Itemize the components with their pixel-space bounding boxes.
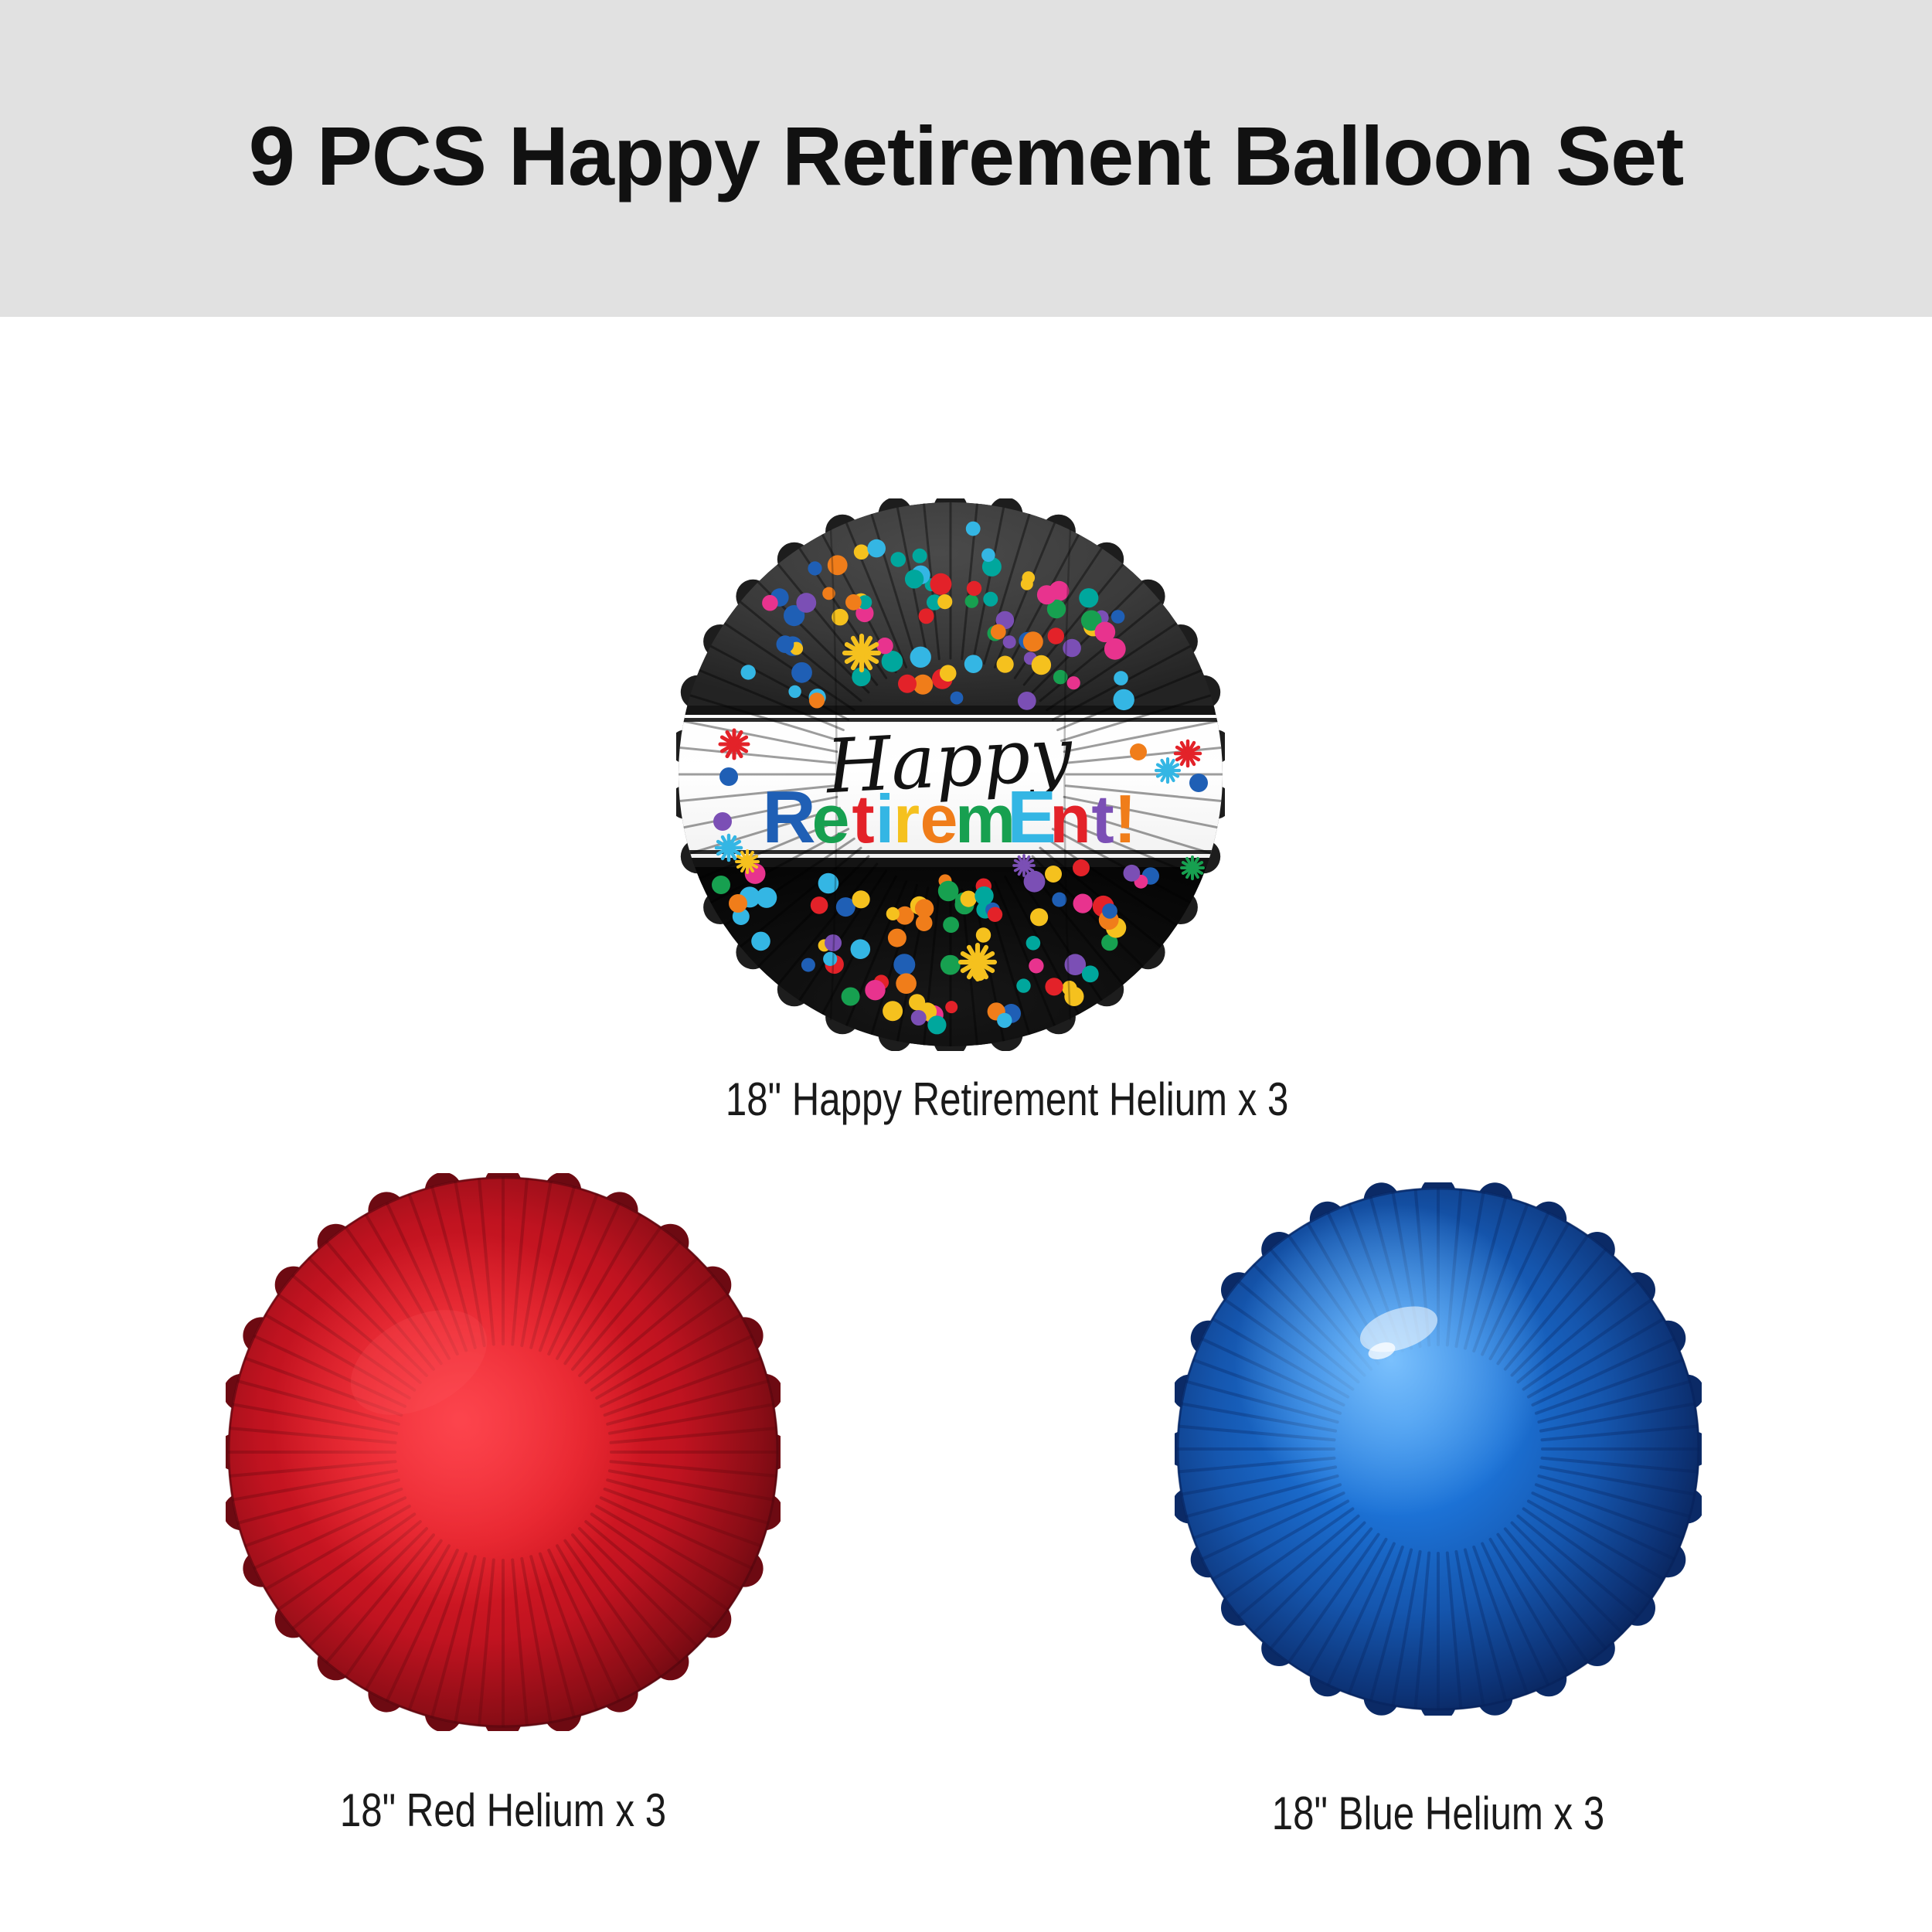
balloon-block-text: RetiremEnt! <box>762 776 1136 859</box>
balloon-letter: e <box>812 781 850 857</box>
balloon-letter: e <box>920 781 958 857</box>
caption-blue: 18" Blue Helium x 3 <box>1222 1787 1654 1840</box>
balloon-letter: n <box>1049 781 1091 857</box>
blue-foil-balloon-icon <box>1175 1182 1702 1716</box>
page-title: 9 PCS Happy Retirement Balloon Set <box>249 107 1683 204</box>
balloon-letter: R <box>762 776 815 859</box>
red-foil-balloon-icon <box>226 1173 781 1731</box>
header-band: 9 PCS Happy Retirement Balloon Set <box>0 0 1932 317</box>
balloon-letter: t <box>852 781 874 857</box>
balloon-letter: ! <box>1114 781 1136 857</box>
product-retirement-balloon: Happy RetiremEnt! 18" Happy Retirement H… <box>676 498 1225 1126</box>
product-blue-balloon: 18" Blue Helium x 3 <box>1175 1182 1702 1840</box>
product-red-balloon: 18" Red Helium x 3 <box>226 1173 781 1837</box>
balloon-letter: r <box>893 781 920 857</box>
caption-retirement: 18" Happy Retirement Helium x 3 <box>726 1073 1175 1126</box>
happy-retirement-balloon-icon: Happy RetiremEnt! <box>676 498 1225 1051</box>
caption-red: 18" Red Helium x 3 <box>276 1784 731 1837</box>
balloon-letter: i <box>876 781 894 857</box>
balloon-letter: t <box>1091 781 1114 857</box>
